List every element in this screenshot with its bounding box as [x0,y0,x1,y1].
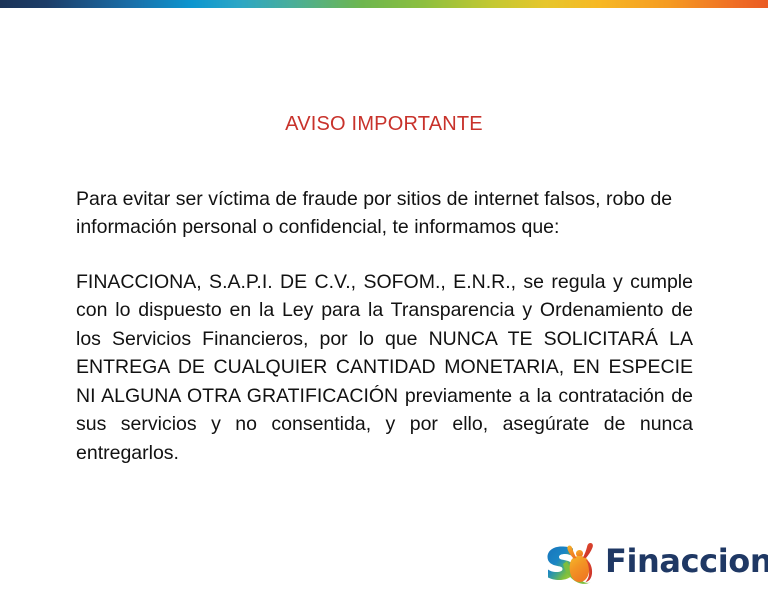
brand-logo: Finacciona [545,532,750,590]
finacciona-logo-mark [545,535,599,587]
top-gradient-bar [0,0,768,8]
logo-figure-right-arm [583,543,593,558]
logo-figure-body [570,556,590,582]
logo-figure-head [576,550,583,557]
legal-disclosure-paragraph: FINACCIONA, S.A.P.I. DE C.V., SOFOM., E.… [76,268,693,468]
page-title: AVISO IMPORTANTE [0,111,768,137]
intro-paragraph: Para evitar ser víctima de fraude por si… [76,185,693,242]
slide-content: AVISO IMPORTANTE Para evitar ser víctima… [0,8,768,600]
brand-wordmark: Finacciona [605,545,768,577]
